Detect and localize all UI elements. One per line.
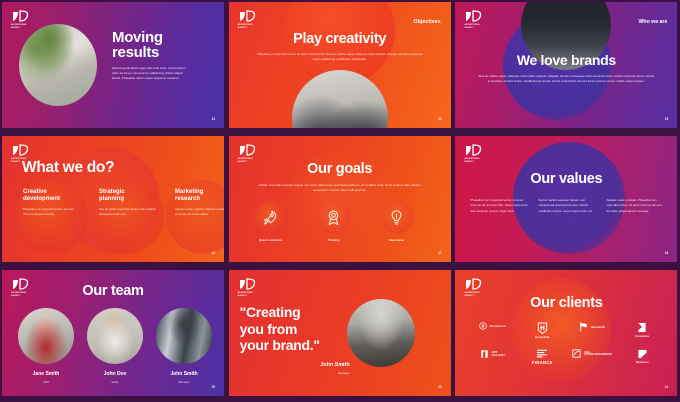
slide-thumbnail-grid: ADVERTISINGAGENCY Moving results Dipisci… [0, 0, 680, 402]
slide-body: Sed ac mattis neque. Aliquam erat mattis… [477, 74, 655, 84]
client-logo[interactable]: Business [618, 349, 666, 365]
slide-body: Dipiscing elit aliquit eget mas incik vi… [112, 66, 190, 80]
slide-kicker: Who we are [639, 19, 668, 25]
avatar [87, 308, 143, 364]
lightbulb-icon [380, 200, 414, 234]
client-name: FINANCE [532, 360, 553, 365]
client-logo[interactable]: Bersmith [568, 322, 616, 339]
client-logo[interactable]: FINANCE [518, 349, 566, 365]
service-card-body: Aliquam erate volutpat. Aliquam iaculis … [175, 207, 224, 216]
team-member-role: CEO [18, 380, 74, 384]
values-column: Aliquam erate volutpat. Phasellus non im… [606, 198, 664, 214]
goal-label: Primary [316, 238, 352, 242]
slide-title: Our team [2, 284, 224, 299]
slide-thumbnail-our-goals[interactable]: ADVERTISINGAGENCY Our goals Nullam imper… [229, 136, 451, 262]
folded-corner-icon [637, 322, 647, 333]
chart-corner-icon [637, 349, 648, 359]
team-member-role: Manager [156, 380, 212, 384]
brand-logo-text: ADVERTISINGAGENCY [464, 24, 486, 30]
service-card-heading: Creative development [23, 189, 80, 202]
frame-icon [480, 349, 489, 359]
slide-thumbnail-our-values[interactable]: ADVERTISINGAGENCY Our values Phasellus n… [455, 136, 677, 262]
client-logo[interactable]: Insurance [618, 322, 666, 339]
brand-logo-icon [464, 143, 482, 157]
brand-logo: ADVERTISINGAGENCY [464, 143, 486, 164]
brand-logo-icon [238, 277, 256, 291]
swoosh-icon [572, 349, 581, 358]
values-column: Phasellus non imperdiet lectus, sit amet… [470, 198, 528, 214]
avatar [156, 308, 212, 364]
bars-icon [536, 349, 548, 358]
client-name: HouseHub [535, 336, 549, 339]
page-number: 16 [211, 251, 215, 255]
page-number: 20 [438, 385, 442, 389]
client-logo[interactable]: REAL ESTATE MANAGEMENT [568, 349, 616, 365]
brand-logo-icon [464, 277, 482, 291]
medal-icon [317, 200, 351, 234]
client-name: Ecommerce [490, 325, 506, 328]
brand-logo-text: ADVERTISINGAGENCY [238, 24, 260, 30]
team-member-role: Seller [87, 380, 143, 384]
page-number: 14 [438, 117, 442, 121]
house-shield-icon [537, 322, 548, 334]
client-name: Insurance [636, 335, 650, 338]
page-number: 21 [665, 385, 669, 389]
brand-logo: ADVERTISINGAGENCY [11, 9, 33, 30]
quote-text: "Creating you from your brand." [240, 304, 320, 354]
slide-title: We love brands [455, 53, 677, 67]
flag-icon [579, 322, 588, 332]
rocket-icon [254, 200, 288, 234]
service-card-heading: Marketing research [175, 189, 224, 202]
brand-logo-icon [11, 143, 29, 157]
page-number: 13 [211, 117, 215, 121]
brand-logo-icon [11, 9, 29, 23]
brand-logo-text: ADVERTISINGAGENCY [238, 292, 260, 298]
slide-photo [19, 24, 97, 106]
page-number: 19 [211, 385, 215, 389]
slide-title: Our goals [229, 162, 451, 177]
slide-photo [347, 299, 415, 367]
brand-logo: ADVERTISINGAGENCY [464, 9, 486, 30]
page-number: 15 [665, 117, 669, 121]
goal-item[interactable]: Primary [316, 200, 352, 242]
circle-dollar-icon [479, 322, 487, 330]
team-member-name: John Smith [156, 371, 212, 377]
slide-thumbnail-we-love-brands[interactable]: ADVERTISINGAGENCY Who we are We love bra… [455, 2, 677, 128]
slide-thumbnail-what-we-do[interactable]: ADVERTISINGAGENCY What we do? Creative d… [2, 136, 224, 262]
quote-author: John Smith [240, 362, 350, 368]
slide-body: Nullam imperdiet suscipit magna nec port… [251, 183, 429, 193]
service-card-body: Phasellus non imperdiet lectus, sit amet… [23, 207, 80, 216]
brand-logo-text: ADVERTISINGAGENCY [464, 158, 486, 164]
slide-thumbnail-quote[interactable]: ADVERTISINGAGENCY "Creating you from you… [229, 270, 451, 396]
slide-title: What we do? [22, 160, 114, 176]
page-number: 17 [438, 251, 442, 255]
slide-thumbnail-play-creativity[interactable]: ADVERTISINGAGENCY Objectives Play creati… [229, 2, 451, 128]
goal-item[interactable]: Quick solutions [253, 200, 289, 242]
team-member-name: Jane Smith [18, 371, 74, 377]
team-member[interactable]: Jane Smith CEO [18, 308, 74, 384]
brand-logo-icon [464, 9, 482, 23]
client-logo[interactable]: Ecommerce [468, 322, 516, 339]
brand-logo-text: ADVERTISINGAGENCY [11, 24, 33, 30]
page-number: 18 [665, 251, 669, 255]
quote-author-role: Manager [240, 371, 350, 375]
goal-group: Quick solutions Primary [253, 200, 415, 242]
slide-thumbnail-our-team[interactable]: ADVERTISINGAGENCY Our team Jane Smith CE… [2, 270, 224, 396]
team-member[interactable]: John Doe Seller [87, 308, 143, 384]
values-column: Sed at mattis nequeuer liquam erat volut… [538, 198, 596, 214]
client-logo-grid: Ecommerce HouseHub Bersmith [468, 322, 666, 365]
avatar [18, 308, 74, 364]
brand-logo: ADVERTISINGAGENCY [238, 9, 260, 30]
service-card-heading: Strategic planning [99, 189, 156, 202]
goal-label: New ideas [379, 238, 415, 242]
team-member-name: John Doe [87, 371, 143, 377]
client-logo[interactable]: ART GALLERY [468, 349, 516, 365]
slide-title: Our clients [455, 296, 677, 311]
slide-title: Our values [455, 172, 677, 187]
service-card[interactable]: Marketing research Aliquam erate volutpa… [166, 180, 224, 254]
slide-kicker: Objectives [413, 19, 440, 25]
team-member[interactable]: John Smith Manager [156, 308, 212, 384]
slide-title: Moving results [112, 30, 163, 61]
client-name: ART GALLERY [492, 351, 505, 357]
brand-logo: ADVERTISINGAGENCY [238, 277, 260, 298]
service-card-body: Sed at mattis imperuset liquam erat volu… [99, 207, 156, 216]
team-member-group: Jane Smith CEO John Doe Seller John Smit… [18, 308, 212, 384]
client-name: Bersmith [591, 325, 605, 329]
brand-logo-icon [238, 9, 256, 23]
service-card-group: Creative development Phasellus non imper… [14, 180, 224, 254]
slide-thumbnail-moving-results[interactable]: ADVERTISINGAGENCY Moving results Dipisci… [2, 2, 224, 128]
client-name: Business [636, 361, 649, 364]
values-columns: Phasellus non imperdiet lectus, sit amet… [470, 198, 664, 214]
service-card[interactable]: Strategic planning Sed at mattis imperus… [90, 180, 164, 254]
slide-thumbnail-our-clients[interactable]: ADVERTISINGAGENCY Our clients Ecommerce … [455, 270, 677, 396]
slide-body: Phasellus a imperdiet lectus, sit amet r… [255, 52, 425, 62]
goal-label: Quick solutions [253, 238, 289, 242]
slide-title: Play creativity [229, 32, 451, 47]
brand-logo-icon [238, 143, 256, 157]
client-logo[interactable]: HouseHub [518, 322, 566, 339]
goal-item[interactable]: New ideas [379, 200, 415, 242]
client-name: REAL ESTATE MANAGEMENT [584, 352, 612, 356]
service-card[interactable]: Creative development Phasellus non imper… [14, 180, 88, 254]
